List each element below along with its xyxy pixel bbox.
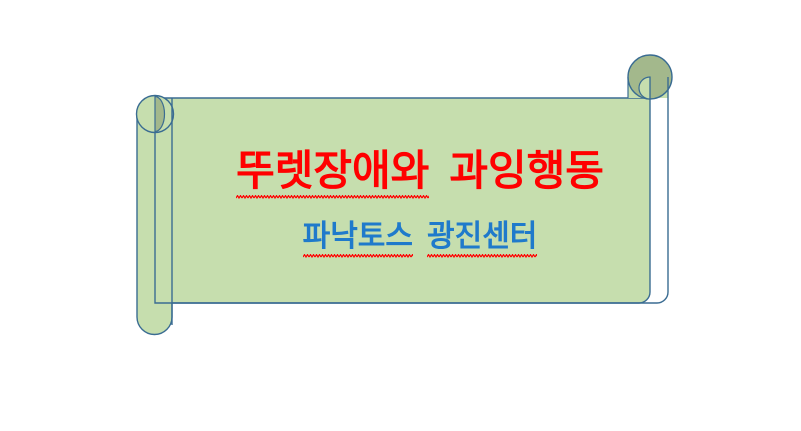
scroll-right-riser	[628, 77, 668, 98]
title-segment-2: 과잉행동	[449, 150, 604, 192]
slide-subtitle[interactable]: 파낙토스 광진센터	[303, 222, 538, 252]
slide-title[interactable]: 뚜렛장애와 과잉행동	[236, 150, 604, 192]
slide-text-block: 뚜렛장애와 과잉행동 파낙토스 광진센터	[172, 98, 668, 303]
scroll-right-curl-outer	[628, 55, 672, 99]
title-segment-1: 뚜렛장애와	[236, 150, 429, 192]
subtitle-segment-2: 광진센터	[427, 222, 537, 252]
slide-canvas: 뚜렛장애와 과잉행동 파낙토스 광진센터	[0, 0, 801, 431]
subtitle-segment-1: 파낙토스	[303, 222, 413, 252]
scroll-left-column	[137, 114, 172, 335]
scroll-left-curl-outer	[137, 96, 174, 133]
scroll-left-curl-inner	[155, 97, 165, 132]
scroll-right-curl-inner	[639, 77, 650, 99]
